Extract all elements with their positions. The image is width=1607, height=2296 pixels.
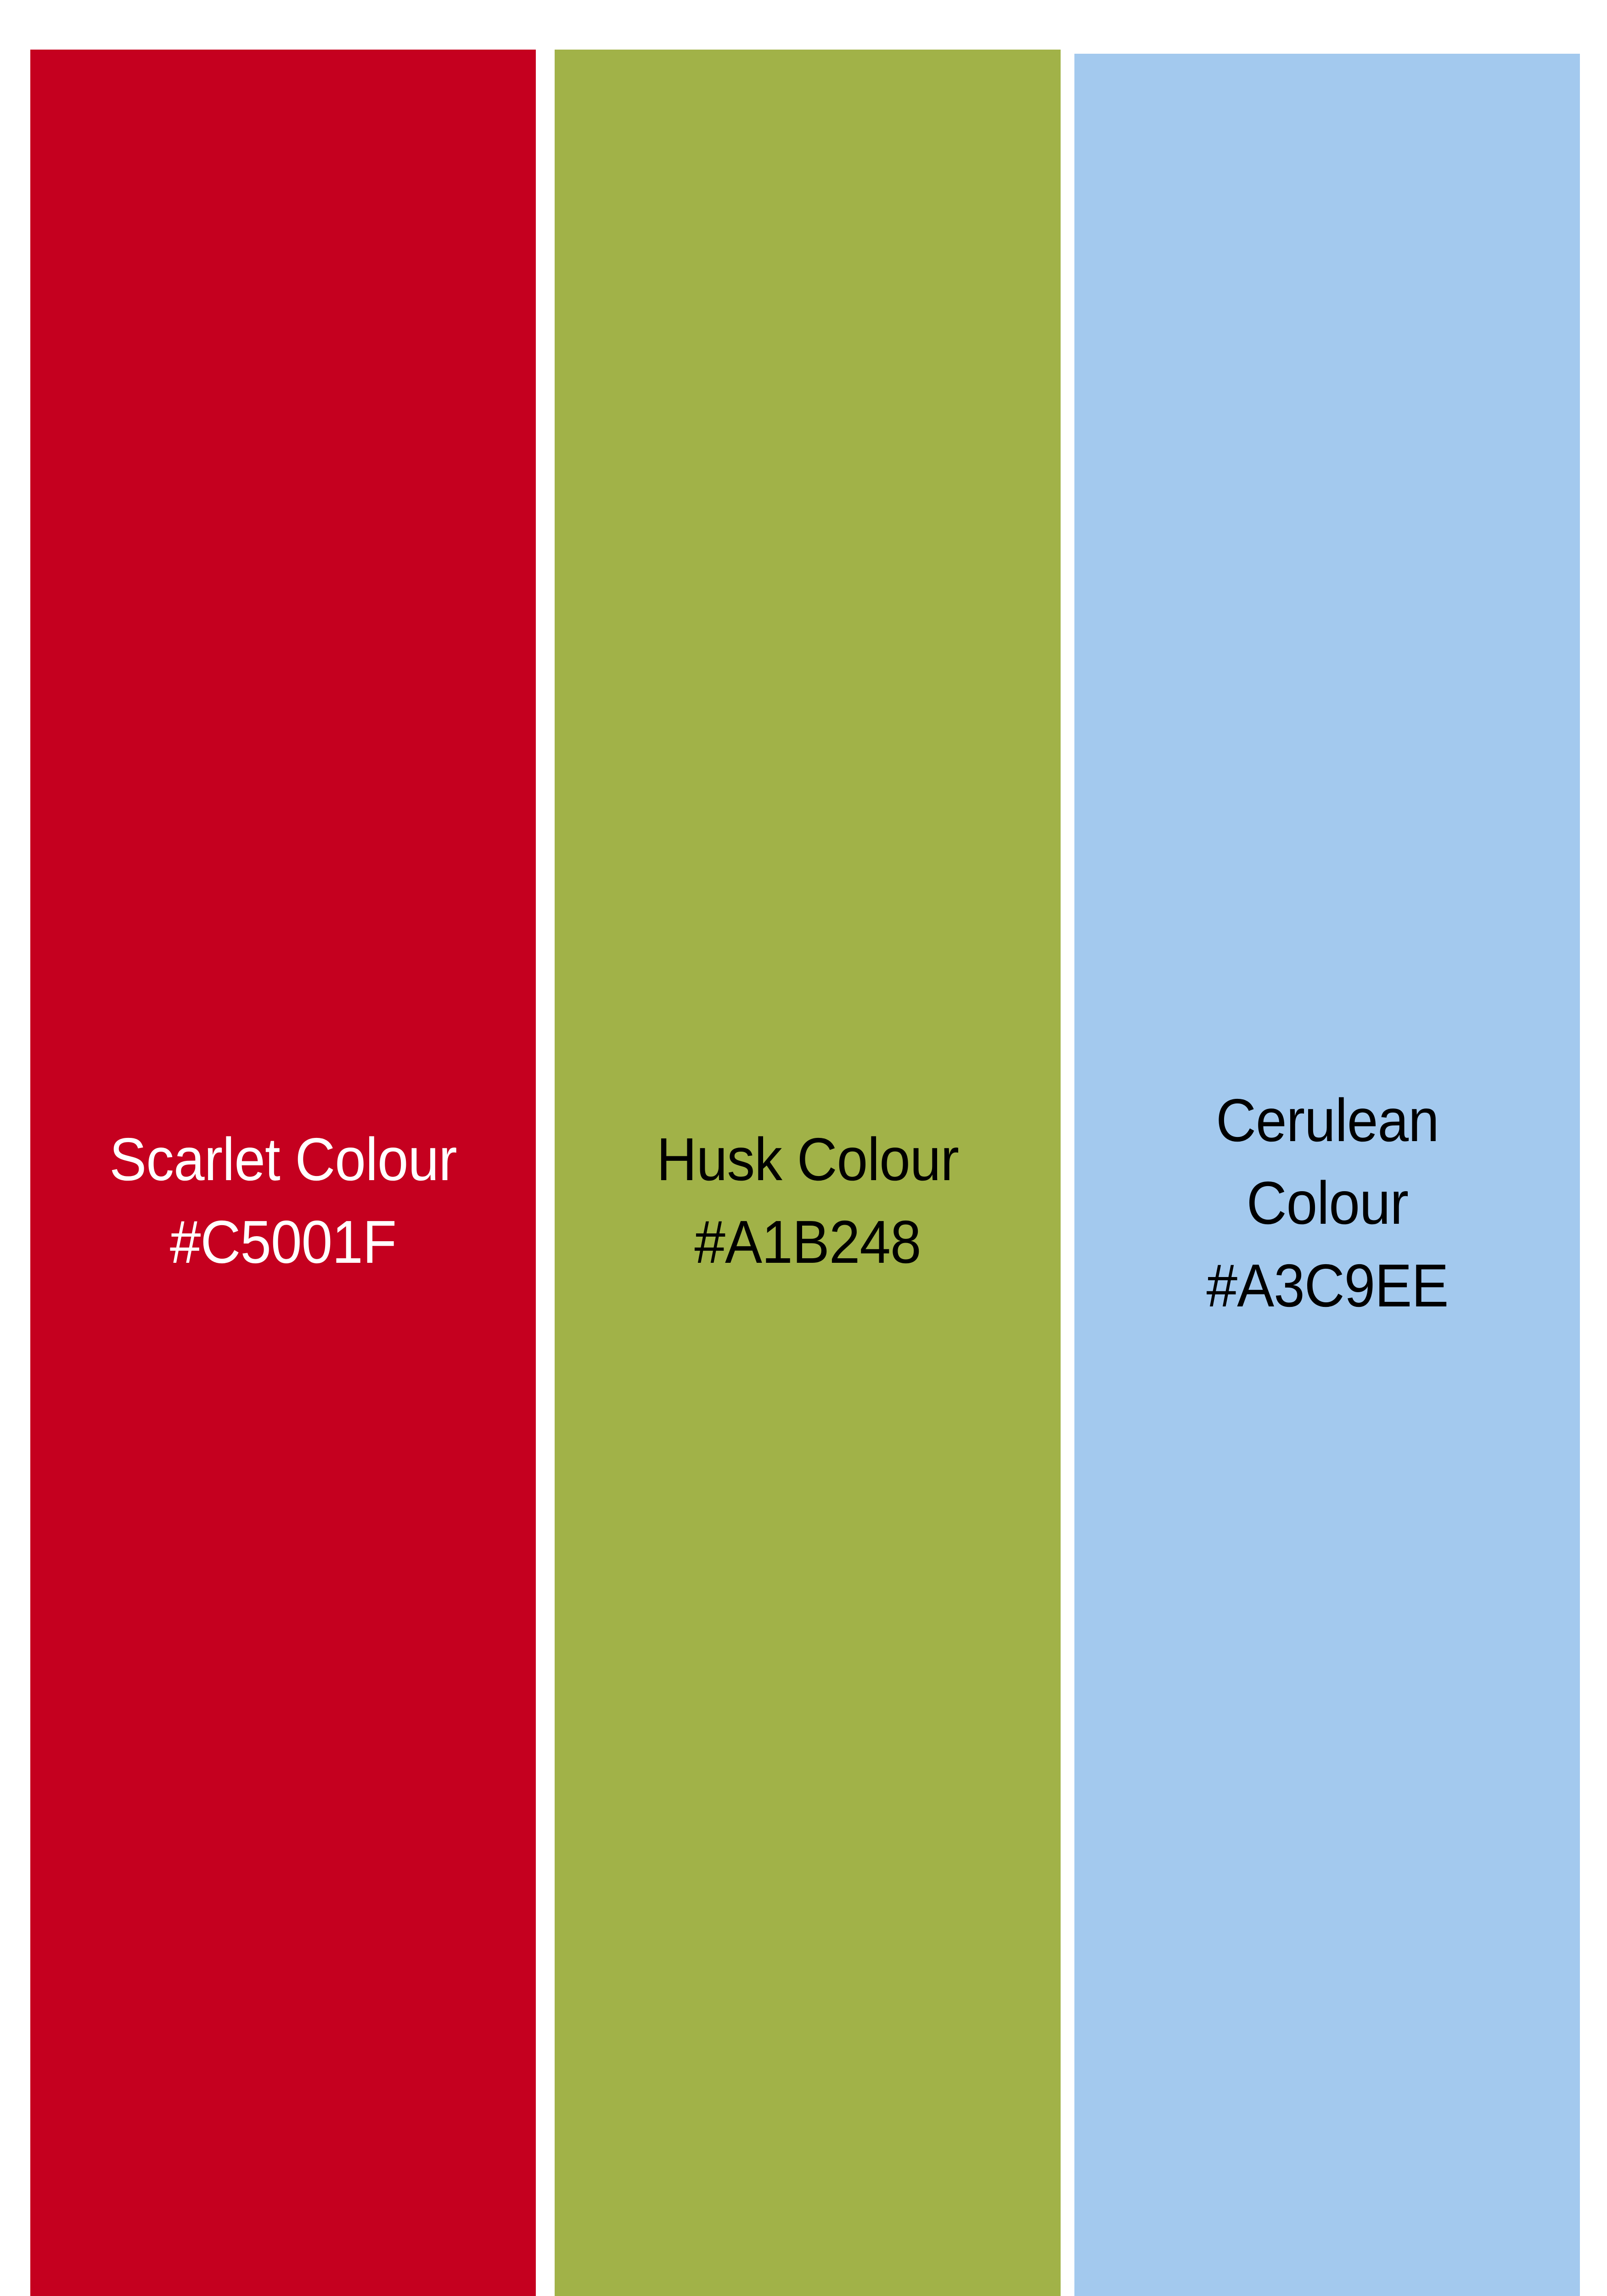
colour-hex-cerulean: #A3C9EE [1186,1244,1468,1327]
colour-swatch-cerulean[interactable]: Cerulean Colour #A3C9EE [1074,54,1580,2296]
colour-hex-scarlet: #C5001F [62,1201,505,1283]
colour-swatch-husk[interactable]: Husk Colour #A1B248 [555,50,1061,2296]
colour-swatch-caption-scarlet: Scarlet Colour #C5001F [51,1118,516,1283]
colour-swatch-scarlet[interactable]: Scarlet Colour #C5001F [30,50,536,2296]
colour-swatch-caption-cerulean: Cerulean Colour #A3C9EE [1175,1079,1479,1327]
colour-swatch-caption-husk: Husk Colour #A1B248 [575,1118,1040,1283]
colour-palette-board: Scarlet Colour #C5001F Husk Colour #A1B2… [0,0,1607,2296]
colour-hex-husk: #A1B248 [586,1201,1029,1283]
colour-name-scarlet: Scarlet Colour [62,1118,505,1201]
colour-name-cerulean-line2: Colour [1186,1162,1468,1244]
colour-name-cerulean-line1: Cerulean [1186,1079,1468,1162]
colour-name-husk: Husk Colour [586,1118,1029,1201]
